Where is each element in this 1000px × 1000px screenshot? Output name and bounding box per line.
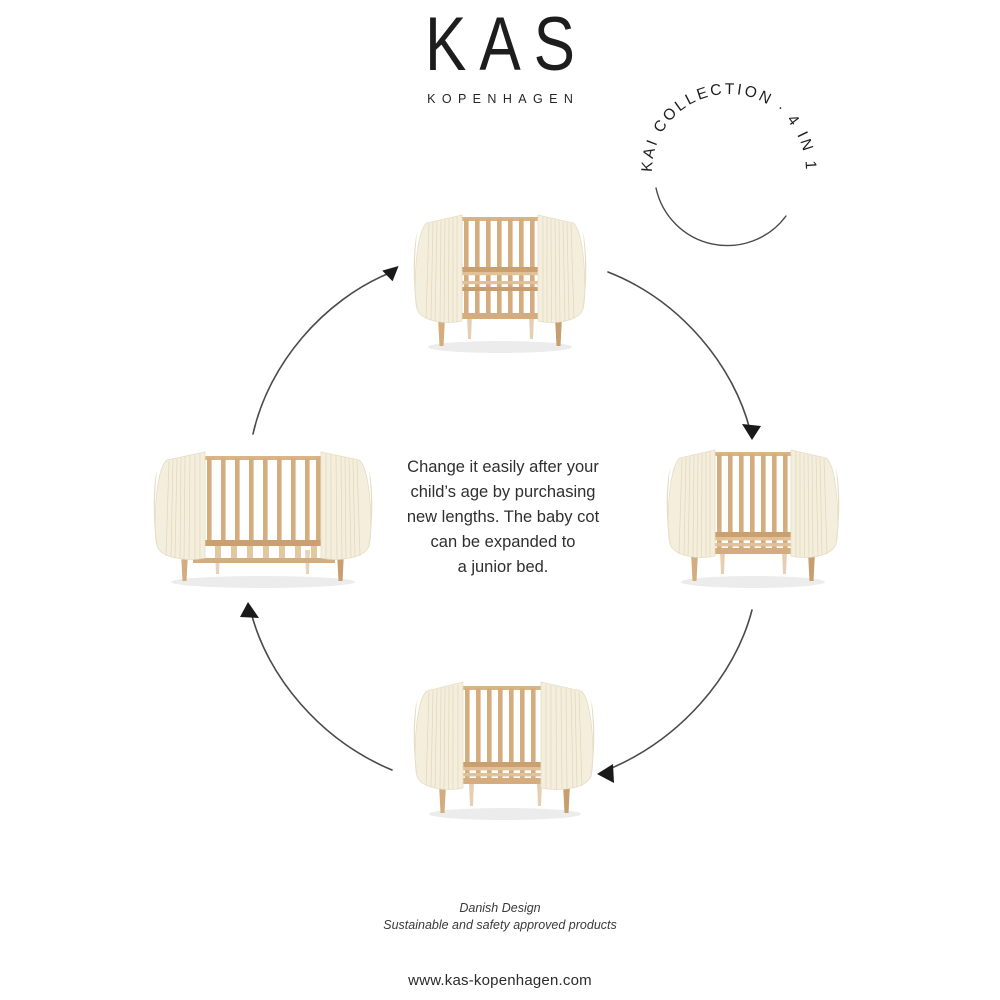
floor-shadow [429,808,581,820]
product-crib-left[interactable] [145,440,380,600]
center-description: Change it easily after your child’s age … [398,455,608,580]
cream-panel-right [321,452,372,560]
wood-slat-section [455,217,547,319]
kai-collection-badge: KAI COLLECTION · 4 IN 1 [634,76,824,266]
cream-panel-left [414,215,462,323]
center-line-1: Change it easily after your [398,455,608,480]
poster-canvas: KAS KOPENHAGEN KAI COLLECTION · 4 IN 1 [0,0,1000,1000]
center-line-3: new lengths. The baby cot [398,505,608,530]
footer-tagline: Danish Design Sustainable and safety app… [0,900,1000,934]
product-crib-top[interactable] [405,205,595,365]
footer-line-1: Danish Design [0,900,1000,917]
footer-line-2: Sustainable and safety approved products [0,917,1000,934]
floor-shadow [428,341,572,353]
badge-arc [656,188,786,246]
floor-shadow [171,576,355,588]
wood-slat-section [455,686,555,784]
cream-panel-left [154,452,205,560]
brand-name: KAS [0,8,1000,84]
brand-tagline: KOPENHAGEN [0,92,1000,106]
arrow-top-to-right [608,272,761,440]
cream-panel-right [541,682,594,790]
brand-logo: KAS KOPENHAGEN [0,8,1000,106]
footer-website-url[interactable]: www.kas-kopenhagen.com [0,972,1000,989]
cream-panel-left [667,450,715,558]
wood-slat-section [193,456,335,563]
cream-panel-right [538,215,586,323]
cream-panel-right [791,450,839,558]
product-crib-bottom[interactable] [405,672,605,832]
arrow-left-to-top [253,266,402,434]
floor-shadow [681,576,825,588]
center-line-2: child’s age by purchasing [398,480,608,505]
badge-label: KAI COLLECTION · 4 IN 1 [639,81,819,172]
product-crib-right[interactable] [658,440,848,600]
cream-panel-left [414,682,463,790]
arrow-bottom-to-left [240,602,392,770]
center-line-4: can be expanded to [398,530,608,555]
badge-label-text: KAI COLLECTION · 4 IN 1 [639,81,819,172]
wood-slat-section [708,452,800,554]
arrow-right-to-bottom [597,610,752,783]
center-line-5: a junior bed. [398,555,608,580]
